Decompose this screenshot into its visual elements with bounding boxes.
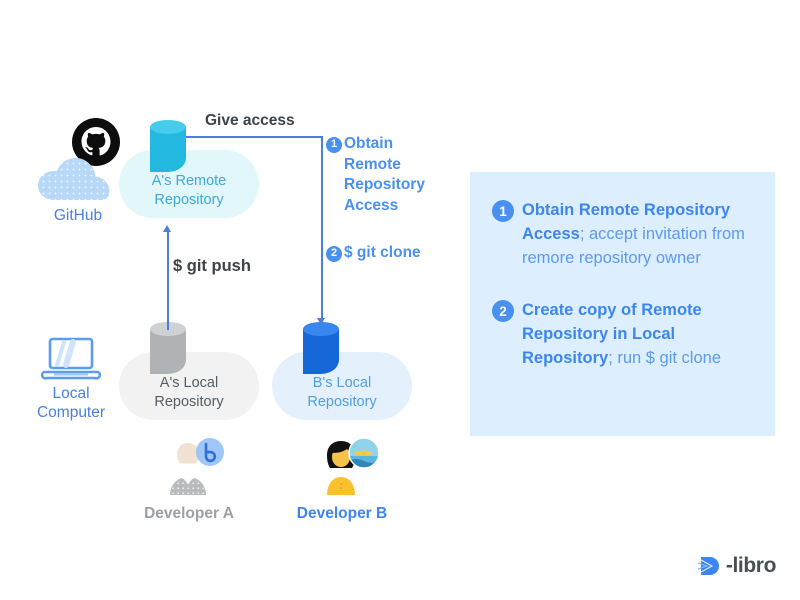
local-computer-label-line1: Local: [26, 384, 116, 403]
panel-step-2-rest: ; run $ git clone: [608, 349, 721, 367]
connector-give-access-arrowhead: [317, 318, 325, 325]
panel-step-2-badge: 2: [492, 300, 514, 322]
b-local-repository-label-line2: Repository: [272, 393, 412, 412]
give-access-label: Give access: [205, 112, 295, 130]
cloud-icon: [36, 150, 114, 202]
developer-a-label: Developer A: [133, 505, 245, 523]
diagram-canvas: GitHub Local Computer A's Remote Reposit…: [0, 0, 800, 600]
b-local-repository-node: B's Local Repository: [272, 352, 412, 420]
b-local-repository-label-line1: B's Local: [272, 374, 412, 393]
d-libro-logo: -libro: [698, 554, 776, 578]
inline-step-1: 1 Obtain Remote Repository Access: [326, 134, 438, 216]
developer-b-group: Developer B: [286, 437, 398, 529]
panel-step-1-text: Obtain Remote Repository Access; accept …: [522, 198, 762, 270]
laptop-icon: [40, 336, 102, 384]
inline-step-2-text: $ git clone: [344, 243, 421, 264]
d-libro-logo-mark: [698, 554, 724, 578]
remote-repository-label-line1: A's Remote: [119, 172, 259, 191]
remote-repository-node: A's Remote Repository: [119, 150, 259, 218]
d-libro-logo-text: -libro: [726, 554, 776, 578]
developer-a-group: Developer A: [133, 437, 245, 529]
badge-b-icon: [195, 437, 225, 467]
inline-step-1-badge: 1: [326, 137, 342, 153]
panel-step-2-text: Create copy of Remote Repository in Loca…: [522, 298, 762, 370]
remote-repository-cylinder-icon: [150, 120, 186, 172]
remote-repository-label-line2: Repository: [119, 191, 259, 210]
inline-step-2-badge: 2: [326, 246, 342, 262]
connector-give-access-horizontal: [186, 136, 323, 138]
connector-give-access-vertical: [321, 136, 323, 322]
a-local-repository-label-line2: Repository: [119, 393, 259, 412]
local-computer-group: Local Computer: [26, 336, 116, 432]
github-group: GitHub: [36, 118, 126, 223]
inline-step-1-text: Obtain Remote Repository Access: [344, 134, 438, 216]
inline-step-2: 2 $ git clone: [326, 243, 446, 264]
panel-step-2: 2 Create copy of Remote Repository in Lo…: [492, 298, 762, 370]
b-local-repository-cylinder-icon: [303, 322, 339, 374]
connector-git-push-line: [167, 232, 169, 330]
a-local-repository-node: A's Local Repository: [119, 352, 259, 420]
badge-photo-icon: [348, 437, 380, 469]
github-label: GitHub: [36, 206, 120, 225]
developer-b-label: Developer B: [286, 505, 398, 523]
panel-step-1: 1 Obtain Remote Repository Access; accep…: [492, 198, 762, 270]
connector-git-push-arrowhead: [163, 225, 171, 232]
a-local-repository-label-line1: A's Local: [119, 374, 259, 393]
steps-panel: 1 Obtain Remote Repository Access; accep…: [470, 172, 775, 436]
git-push-label: $ git push: [173, 257, 251, 276]
panel-step-1-badge: 1: [492, 200, 514, 222]
local-computer-label-line2: Computer: [26, 403, 116, 422]
